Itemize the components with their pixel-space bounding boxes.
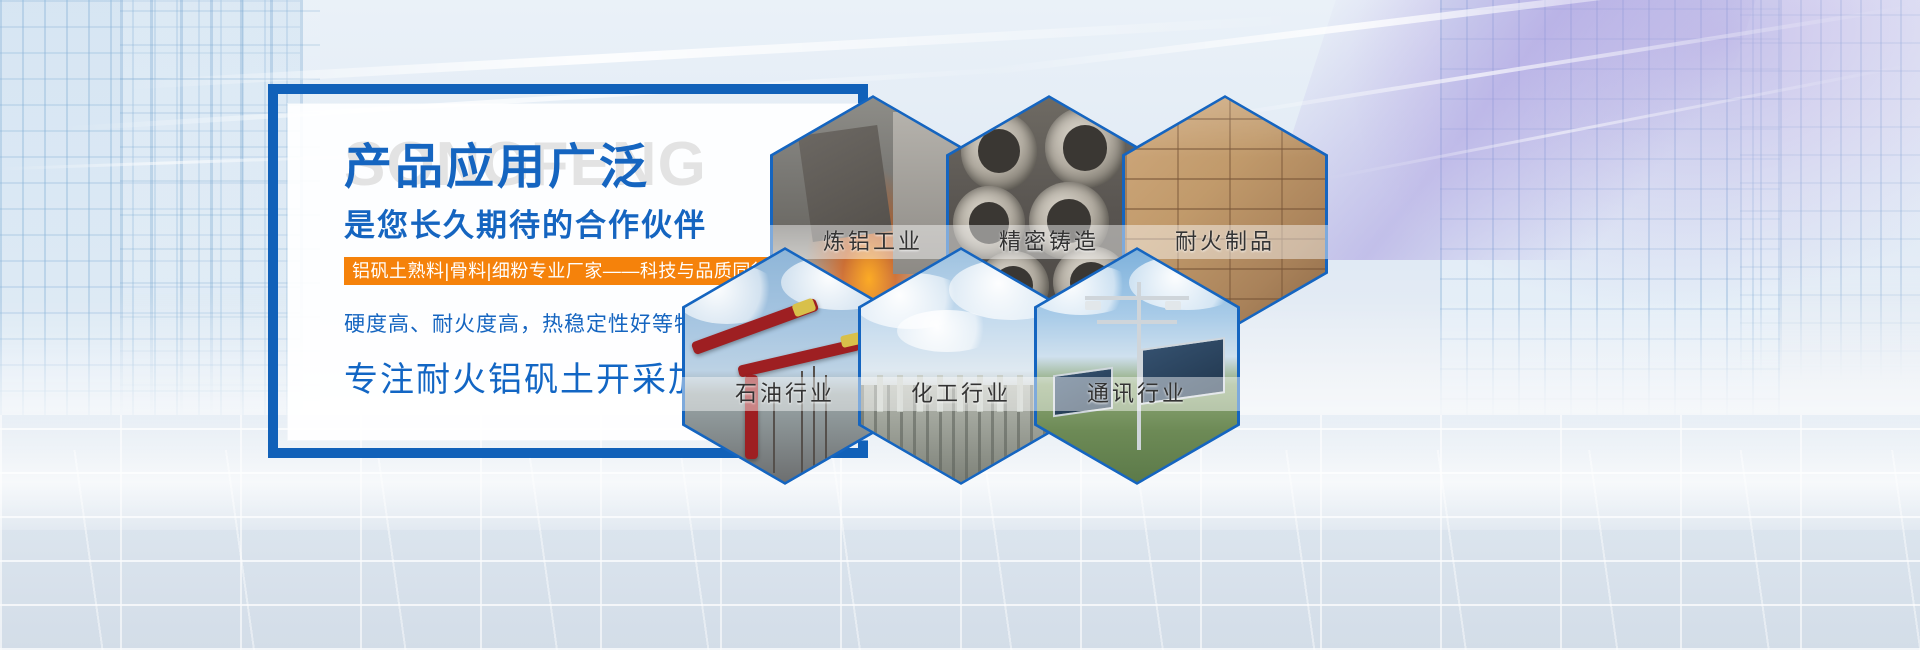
application-label: 耐火制品	[1122, 225, 1328, 259]
application-label: 化工行业	[858, 377, 1064, 411]
banner-headline: 产品应用广泛	[344, 142, 650, 195]
application-label: 炼铝工业	[770, 225, 976, 259]
application-label: 通讯行业	[1034, 377, 1240, 411]
promo-banner: SONGFENG 产品应用广泛 是您长久期待的合作伙伴 铝矾土熟料|骨料|细粉专…	[0, 0, 1920, 650]
application-hex-grid: 炼铝工业 精密铸造 耐火制品	[660, 95, 1340, 515]
application-label: 石油行业	[682, 377, 888, 411]
banner-subheadline: 是您长久期待的合作伙伴	[344, 200, 707, 245]
application-label: 精密铸造	[946, 225, 1152, 259]
